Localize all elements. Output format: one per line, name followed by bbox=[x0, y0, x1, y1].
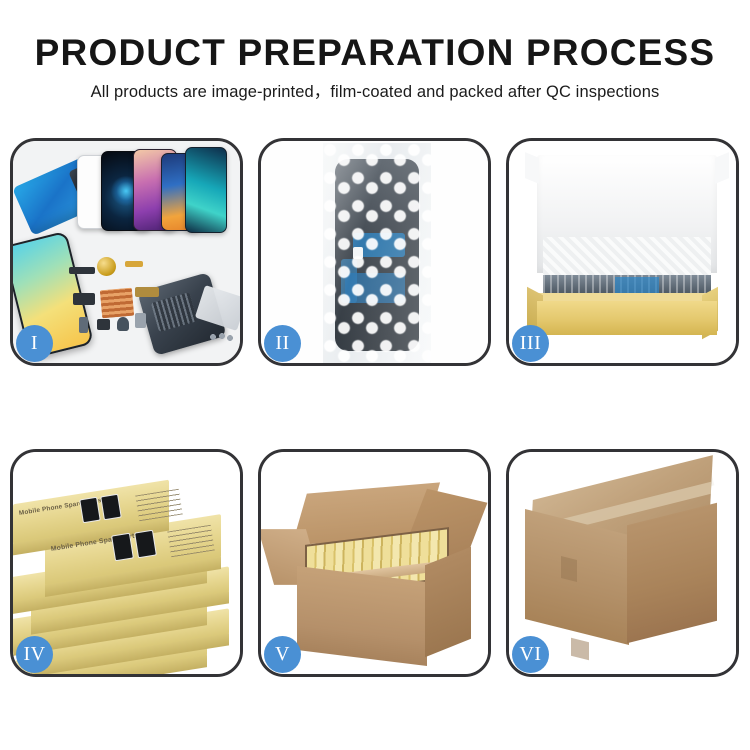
carton-seam-upper bbox=[561, 556, 577, 582]
step-panel-1[interactable]: I bbox=[10, 138, 243, 366]
step-badge-3: III bbox=[512, 325, 549, 362]
vibrator-part-icon bbox=[117, 317, 129, 331]
speaker-part-icon bbox=[97, 257, 116, 276]
carton-seam-lower bbox=[571, 638, 589, 660]
step-badge-1: I bbox=[16, 325, 53, 362]
flex-cable-icon bbox=[69, 267, 95, 274]
box-phone-graphic-3 bbox=[111, 533, 134, 562]
step-panel-3[interactable]: III bbox=[506, 138, 739, 366]
box-phone-graphic-1 bbox=[79, 497, 101, 524]
page-title: PRODUCT PREPARATION PROCESS bbox=[0, 30, 750, 76]
carton-right-face bbox=[627, 503, 717, 643]
copper-shield-icon bbox=[100, 288, 134, 319]
chip-part-icon bbox=[97, 319, 110, 330]
step-panel-2[interactable]: II bbox=[258, 138, 491, 366]
carton-front-face bbox=[297, 566, 427, 666]
gold-flex-icon bbox=[135, 287, 159, 297]
sim-tray-icon bbox=[135, 313, 146, 328]
page-subtitle: All products are image-printed，film-coat… bbox=[0, 79, 750, 105]
step-panel-5[interactable]: V bbox=[258, 449, 491, 677]
phone-screen-teal bbox=[185, 147, 227, 233]
page-header: PRODUCT PREPARATION PROCESS All products… bbox=[0, 0, 750, 105]
camera-module-icon bbox=[73, 293, 95, 305]
foam-padding bbox=[543, 237, 711, 279]
gold-connector-icon bbox=[125, 261, 143, 267]
step-panel-4[interactable]: Mobile Phone Spare Parts Mobile Phone Sp… bbox=[10, 449, 243, 677]
screws-icon bbox=[209, 331, 235, 343]
box-spec-text-back bbox=[135, 489, 183, 522]
step-badge-6: VI bbox=[512, 636, 549, 673]
carton-right-face bbox=[425, 547, 471, 658]
box-tray-front bbox=[537, 301, 717, 335]
step-badge-2: II bbox=[264, 325, 301, 362]
step-panel-6[interactable]: VI bbox=[506, 449, 739, 677]
process-steps-grid: I II bbox=[10, 138, 740, 677]
step-badge-5: V bbox=[264, 636, 301, 673]
box-phone-graphic-4 bbox=[134, 530, 157, 559]
battery-part-icon bbox=[79, 317, 88, 333]
box-phone-graphic-2 bbox=[100, 494, 122, 521]
film-sheen-overlay bbox=[323, 143, 431, 363]
step-badge-4: IV bbox=[16, 636, 53, 673]
